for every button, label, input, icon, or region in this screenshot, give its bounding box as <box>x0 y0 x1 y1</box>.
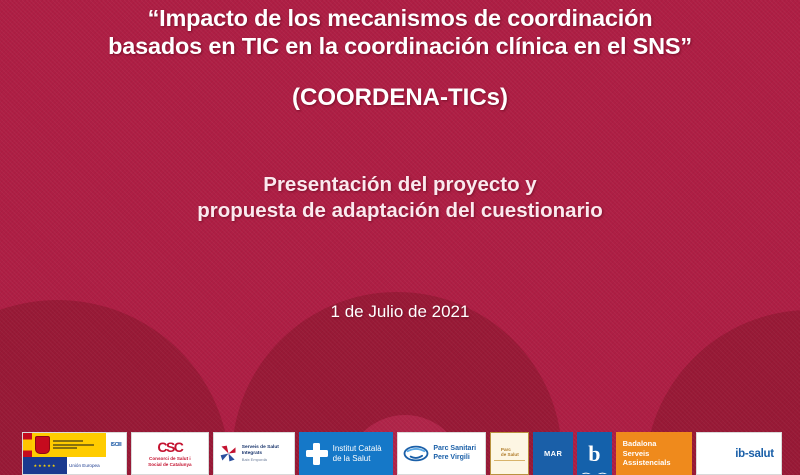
bsa-label-line-3: Assistencials <box>623 458 671 468</box>
eu-label: Unión Europea <box>67 463 126 469</box>
badalona-wave-icon <box>582 463 607 468</box>
gobierno-band: ISCIII <box>23 433 126 457</box>
presentation-date: 1 de Julio de 2021 <box>0 302 800 322</box>
ics-label-line-2: de la Salut <box>333 454 371 463</box>
badalona-b-glyph-icon: b <box>588 443 600 465</box>
psm-label-line-2: de Salut <box>501 452 519 457</box>
logo-institut-catala-salut: Institut Català de la Salut <box>299 432 394 475</box>
date-block: 1 de Julio de 2021 <box>0 302 800 322</box>
csc-label: Consorci de Salut i Social de Catalunya <box>148 456 191 468</box>
ssibe-label-line-1: Serveis de Salut Integrats <box>242 445 294 457</box>
logo-ssibe: Serveis de Salut Integrats Baix Empordà <box>213 432 295 475</box>
ssibe-label-line-2: Baix Empordà <box>242 457 294 462</box>
psm-label-line-1: Parc <box>501 447 511 452</box>
bsa-label-line-2: Serveis <box>623 449 650 459</box>
title-block: “Impacto de los mecanismos de coordinaci… <box>0 4 800 112</box>
subtitle-block: Presentación del proyecto y propuesta de… <box>0 172 800 224</box>
ib-salut-wordmark: ib-salut <box>730 448 774 460</box>
csc-label-line-1: Consorci de Salut i <box>149 456 191 461</box>
title-line-2: basados en TIC en la coordinación clínic… <box>0 32 800 60</box>
spain-flag-icon <box>23 433 32 457</box>
logo-consorci-salut-social-catalunya: CSC Consorci de Salut i Social de Catalu… <box>131 432 209 475</box>
pere-virgili-swoosh-icon <box>403 444 429 463</box>
gobierno-wordmark <box>50 440 106 449</box>
logo-badalona-b-mark: b <box>577 432 612 475</box>
logo-parc-sanitari-pere-virgili: Parc Sanitari Pere Virgili <box>397 432 486 475</box>
mar-wordmark: MAR <box>544 449 562 458</box>
logo-gobierno-espana-isciii: ISCIII ★★★★★ Unión Europea <box>22 432 127 475</box>
subtitle-line-2: propuesta de adaptación del cuestionario <box>0 198 800 224</box>
ics-label-line-1: Institut Català <box>333 444 382 453</box>
psv-label-line-1: Parc Sanitari <box>433 445 476 452</box>
ssibe-pinwheel-icon <box>218 443 239 464</box>
ics-label: Institut Català de la Salut <box>328 444 382 463</box>
presentation-slide: “Impacto de los mecanismos de coordinaci… <box>0 0 800 475</box>
medical-cross-icon <box>306 443 328 465</box>
logo-badalona-serveis-assistencials: Badalona Serveis Assistencials <box>616 432 693 475</box>
slide-content: “Impacto de los mecanismos de coordinaci… <box>0 0 800 475</box>
ib-salut-crescent-icon <box>704 444 730 464</box>
csc-label-line-2: Social de Catalunya <box>148 462 191 467</box>
spain-coat-of-arms-icon <box>35 436 50 454</box>
psm-label: Parc de Salut <box>501 447 519 458</box>
isciii-mark: ISCIII <box>106 433 126 457</box>
psm-divider <box>494 460 525 461</box>
psv-label: Parc Sanitari Pere Virgili <box>429 445 476 462</box>
bsa-label-line-1: Badalona <box>623 439 657 449</box>
eu-flag-icon: ★★★★★ <box>23 457 67 474</box>
title-line-1: “Impacto de los mecanismos de coordinaci… <box>0 4 800 32</box>
psv-label-line-2: Pere Virgili <box>433 454 469 461</box>
eu-band: ★★★★★ Unión Europea <box>23 457 126 474</box>
eu-stars-icon: ★★★★★ <box>23 457 67 474</box>
logo-ib-salut: ib-salut <box>696 432 782 475</box>
csc-mark-icon: CSC <box>157 440 182 454</box>
subtitle-line-1: Presentación del proyecto y <box>0 172 800 198</box>
logo-hospital-del-mar: MAR <box>533 432 573 475</box>
sponsor-logo-bar: ISCIII ★★★★★ Unión Europea CSC Consorci … <box>22 432 782 475</box>
logo-parc-de-salut-mar: Parc de Salut <box>490 432 529 475</box>
ssibe-label: Serveis de Salut Integrats Baix Empordà <box>239 445 294 462</box>
project-acronym: (COORDENA-TICs) <box>0 84 800 112</box>
